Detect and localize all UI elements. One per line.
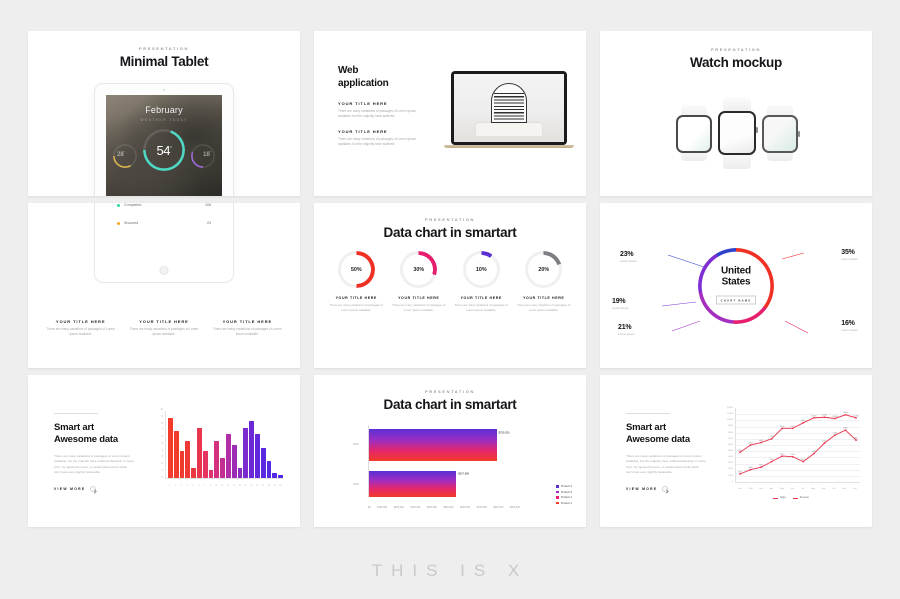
watch-center (717, 97, 757, 169)
line-ytick-11: 1000 (728, 475, 733, 477)
hbar-group-2014: $759,030$620,185$479,932$340,8872014 (369, 429, 520, 461)
watch-group (671, 89, 801, 174)
watch-right (761, 105, 799, 161)
stat-snoozed-label-group: Snoozed (117, 221, 138, 225)
line-xtick-11: Nov (839, 488, 849, 490)
donut-item-1: 50%YOUR TITLE HEREThere are many variati… (328, 251, 385, 313)
line-chart-x-axis: JanFebMarAprMayJunJulAugSepOctNovDec (735, 488, 860, 490)
slide-grid: PRESENTATION Minimal Tablet February WEA… (28, 31, 872, 527)
line-legend-item-1: Sales (773, 497, 786, 499)
bar-xtick-14: 14 (243, 485, 248, 487)
bar-xtick-10: 10 (220, 485, 225, 487)
bar-16 (255, 434, 260, 478)
web-app-block-2-title: YOUR TITLE HERE (338, 129, 420, 134)
bar-4 (185, 441, 190, 478)
line-point-label: 10500 (822, 415, 828, 417)
line-chart-y-axis: 1200011000100009000800070006000500040003… (722, 407, 733, 483)
hbar-ytick-2013: 2013 (353, 483, 359, 486)
bar-2 (174, 431, 179, 478)
column-3: YOUR TITLE HERE There are many variation… (211, 319, 284, 338)
bar-13 (238, 468, 243, 478)
column-2: YOUR TITLE HERE There are many variation… (127, 319, 200, 338)
hbar-legend-item-4: Product 1 (556, 502, 572, 505)
us-chart-name-badge: CHART NAME (716, 296, 757, 305)
donut-1-title: YOUR TITLE HERE (328, 296, 385, 300)
web-app-title: Web application (338, 65, 420, 91)
bar-xtick-5: 5 (190, 485, 195, 487)
bar-xtick-17: 17 (261, 485, 266, 487)
slide8-title: Data chart in smartart (314, 397, 586, 412)
hbar-group-2013: $507,580$411,339$319,609$220,6182013 (369, 471, 520, 497)
bar-17 (261, 448, 266, 478)
hbar-2014-product-4 (369, 429, 497, 461)
hbar-fill (369, 429, 497, 461)
slide-data-chart-donuts[interactable]: PRESENTATION Data chart in smartart 50%Y… (314, 203, 586, 368)
line-ytick-12: 0 (732, 481, 733, 483)
donut-item-4: 20%YOUR TITLE HEREThere are many variati… (516, 251, 573, 313)
stat-snoozed-label: Snoozed (124, 221, 138, 225)
bar-14 (243, 428, 248, 478)
legend-swatch (556, 496, 559, 499)
web-app-block-1: YOUR TITLE HERE There are many variation… (338, 101, 420, 120)
watch-left-screen (678, 117, 710, 151)
presentation-preview-page: PRESENTATION Minimal Tablet February WEA… (0, 0, 900, 599)
slide1-header: PRESENTATION Minimal Tablet (28, 31, 300, 69)
legend-swatch (556, 485, 559, 488)
bar-1 (168, 418, 173, 478)
slide-united-states-donut[interactable]: United States CHART NAME 35% Lorem ipsum… (600, 203, 872, 368)
hbar-xtick-1: $100,000 (377, 506, 387, 509)
hbar-fill (369, 471, 456, 497)
bar-7 (203, 451, 208, 478)
hbar-xtick-2: $200,000 (394, 506, 404, 509)
line-ytick-3: 9000 (728, 425, 733, 427)
smart-art-bars-title: Smart art Awesome data (54, 422, 134, 447)
right-temp-unit: ° (210, 150, 211, 154)
line-ytick-8: 4000 (728, 456, 733, 458)
slide5-header: PRESENTATION Data chart in smartart (314, 203, 586, 240)
legend-label: Product 1 (561, 502, 572, 505)
us-label-19-sub: Lorem ipsum (612, 306, 629, 310)
donut-item-2: 30%YOUR TITLE HEREThere are many variati… (391, 251, 448, 313)
bar-15 (249, 421, 254, 478)
title-rule-divider-2 (626, 413, 670, 414)
us-label-35-pct: 35% (841, 249, 858, 256)
bar-ytick-2: 8 (162, 423, 163, 425)
view-more-button-2[interactable]: VIEW MORE (626, 486, 706, 492)
us-center-line1: United (721, 265, 751, 276)
bar-12 (232, 445, 237, 479)
line-point-label: 10400 (853, 415, 859, 417)
tablet-home-button[interactable] (160, 266, 169, 275)
stat-completed-label: Completed (124, 203, 141, 207)
line-ytick-2: 10000 (727, 419, 733, 421)
bar-3 (180, 451, 185, 478)
hbar-value-label: $759,030 (499, 432, 510, 435)
us-donut-wrap: United States CHART NAME 35% Lorem ipsum… (600, 203, 872, 368)
laptop-base (444, 145, 574, 148)
stat-completed-value: 108 (205, 203, 211, 207)
us-donut-center: United States CHART NAME (701, 265, 771, 306)
watch-left (675, 105, 713, 161)
bar-ytick-5: 5 (162, 443, 163, 445)
legend-swatch (556, 502, 559, 505)
donut-3-title: YOUR TITLE HERE (453, 296, 510, 300)
donut-2-title: YOUR TITLE HERE (391, 296, 448, 300)
hbar-xtick-9: $900,000 (510, 506, 520, 509)
left-temp-unit: ° (124, 150, 125, 154)
bar-xtick-9: 9 (214, 485, 219, 487)
us-label-23-sub: Lorem ipsum (620, 259, 637, 263)
hbar-legend-item-1: Product 4 (556, 485, 572, 488)
line-point-label: 10900 (843, 412, 849, 414)
bar-10 (220, 458, 225, 478)
slide-minimal-tablet[interactable]: PRESENTATION Minimal Tablet February WEA… (28, 31, 300, 196)
line-point-label: 6800 (854, 437, 859, 439)
line-xtick-10: Oct (829, 488, 839, 490)
line-xtick-5: May (777, 488, 787, 490)
line-point-label: 8400 (843, 428, 848, 430)
line-chart-plot: 4800600064007000870087009600104001050010… (735, 408, 860, 483)
interior-sofa-graphic (476, 123, 542, 136)
bar-18 (267, 461, 272, 478)
sal-title-line1: Smart art (626, 422, 666, 433)
donut-2-body: There are many variations of passages of… (391, 303, 448, 313)
us-label-23-pct: 23% (620, 251, 637, 258)
bar-ytick-8: 2 (162, 463, 163, 465)
line-xtick-9: Sep (818, 488, 828, 490)
bar-chart-x-axis: 1234567891011121314151617181920 (167, 485, 283, 487)
us-label-16: 16% Lorem ipsum (841, 320, 858, 332)
donut-item-3: 10%YOUR TITLE HEREThere are many variati… (453, 251, 510, 313)
legend-line (793, 498, 798, 499)
bar-xtick-4: 4 (185, 485, 190, 487)
bar-chart-y-axis: 109876543210 (155, 409, 163, 479)
bar-ytick-10: 0 (162, 477, 163, 479)
weather-right-temp: 18° (203, 150, 211, 158)
bar-xtick-20: 20 (278, 485, 283, 487)
hbar-xtick-6: $600,000 (460, 506, 470, 509)
watch-center-screen (720, 113, 754, 153)
hbar-xtick-8: $800,000 (493, 506, 503, 509)
web-app-text-column: Web application YOUR TITLE HERE There ar… (338, 65, 420, 157)
bar-9 (214, 441, 219, 478)
stat-row-snoozed: Snoozed 24 (117, 221, 211, 225)
stat-completed-label-group: Completed (117, 203, 141, 207)
donut-3-value: 10% (476, 267, 487, 273)
legend-label: Revenue (800, 497, 809, 499)
line-series-revenue (740, 430, 856, 474)
legend-swatch (556, 491, 559, 494)
line-point-label: 10400 (811, 415, 817, 417)
three-column-text: YOUR TITLE HERE There are many variation… (44, 319, 284, 338)
laptop-display (454, 74, 564, 142)
hbar-xtick-5: $500,000 (444, 506, 454, 509)
weather-sub-label: WEATHER TODAY (106, 118, 222, 122)
donut-4-title: YOUR TITLE HERE (516, 296, 573, 300)
bar-6 (197, 428, 202, 478)
bar-ytick-9: 1 (162, 470, 163, 472)
smart-art-lines-title: Smart art Awesome data (626, 422, 706, 447)
legend-label: Product 4 (561, 485, 572, 488)
sab-title-line2: Awesome data (54, 434, 118, 445)
title-rule-divider (54, 413, 98, 414)
us-label-35: 35% Lorem ipsum (841, 249, 858, 261)
bar-xtick-1: 1 (167, 485, 172, 487)
view-more-label-2: VIEW MORE (626, 487, 657, 491)
stat-row-completed: Completed 108 (117, 203, 211, 207)
watch-right-crown-icon (798, 131, 800, 137)
tablet-camera-icon (163, 89, 165, 91)
us-label-21-sub: Lorem ipsum (618, 332, 635, 336)
bar-5 (191, 468, 196, 478)
tablet-bottom-mockup: Good job, you've completed 5 more tasks … (94, 203, 234, 283)
legend-label: Product 3 (561, 491, 572, 494)
slide-smart-art-lines[interactable]: Smart art Awesome data There are many va… (600, 375, 872, 527)
line-chart-svg: 4800600064007000870087009600104001050010… (736, 408, 860, 482)
slide3-eyebrow: PRESENTATION (600, 47, 872, 52)
slide-watch-mockup[interactable]: PRESENTATION Watch mockup (600, 31, 872, 196)
hbar-x-axis: $0$100,000$200,000$300,000$400,000$500,0… (368, 506, 520, 509)
us-label-16-sub: Lorem ipsum (841, 328, 858, 332)
hbar-legend: Product 4Product 3Product 2Product 1 (556, 485, 572, 507)
line-xtick-2: Feb (745, 488, 755, 490)
bar-ytick-6: 4 (162, 450, 163, 452)
us-label-35-sub: Lorem ipsum (841, 257, 858, 261)
donut-3: 10% (463, 251, 500, 288)
watch-right-screen (764, 117, 796, 151)
donut-3-body: There are many variations of passages of… (453, 303, 510, 313)
line-xtick-8: Aug (808, 488, 818, 490)
smart-art-lines-text: Smart art Awesome data There are many va… (626, 413, 706, 492)
bar-xtick-12: 12 (231, 485, 236, 487)
main-temp-value: 54 (157, 143, 170, 158)
hbar-plot: $759,030$620,185$479,932$340,8872014$507… (368, 425, 520, 497)
bar-chart-plot (165, 411, 283, 479)
web-app-block-1-title: YOUR TITLE HERE (338, 101, 420, 106)
bar-xtick-18: 18 (266, 485, 271, 487)
bar-19 (272, 473, 277, 478)
column-1-body: There are many variations of passages of… (44, 327, 117, 338)
slide-smart-art-bars[interactable]: Smart art Awesome data There are many va… (28, 375, 300, 527)
arrow-right-icon (90, 486, 96, 492)
watch-left-body (676, 115, 712, 153)
vertical-bar-chart: 109876543210 123456789101112131415161718… (155, 409, 283, 491)
us-label-16-pct: 16% (841, 320, 858, 327)
watch-right-body (762, 115, 798, 153)
line-xtick-7: Jul (798, 488, 808, 490)
line-ytick-4: 8000 (728, 432, 733, 434)
bar-xtick-8: 8 (208, 485, 213, 487)
status-dot-snoozed-icon (117, 222, 120, 225)
bar-ytick-0: 10 (160, 409, 163, 411)
donut-1: 50% (338, 251, 375, 288)
donut-1-body: There are many variations of passages of… (328, 303, 385, 313)
line-legend-item-2: Revenue (793, 497, 809, 499)
column-1-title: YOUR TITLE HERE (44, 319, 117, 324)
slide-data-chart-hbars[interactable]: PRESENTATION Data chart in smartart $759… (314, 375, 586, 527)
hbar-value-label: $507,580 (458, 473, 469, 476)
tablet-screen: February WEATHER TODAY 54° 28° 18° (106, 95, 222, 196)
line-ytick-10: 2000 (728, 468, 733, 470)
bar-xtick-15: 15 (249, 485, 254, 487)
column-2-body: There are many variations of passages of… (127, 327, 200, 338)
web-app-title-line2: application (338, 78, 389, 89)
weather-month-label: February (106, 105, 222, 115)
donut-chart-row: 50%YOUR TITLE HEREThere are many variati… (328, 251, 572, 313)
hbar-xtick-3: $300,000 (410, 506, 420, 509)
sab-title-line1: Smart art (54, 422, 94, 433)
laptop-lid (451, 71, 567, 145)
bar-ytick-1: 9 (162, 416, 163, 418)
main-temp-unit: ° (170, 146, 172, 152)
slide1-title: Minimal Tablet (28, 54, 300, 69)
smart-art-bars-body: There are many variations of passages of… (54, 454, 134, 476)
line-ytick-0: 12000 (727, 407, 733, 409)
legend-label: Sales (780, 497, 786, 499)
smart-art-bars-text: Smart art Awesome data There are many va… (54, 413, 134, 492)
slide5-title: Data chart in smartart (314, 225, 586, 240)
bar-xtick-7: 7 (202, 485, 207, 487)
right-temp-value: 18 (203, 152, 210, 158)
smart-art-lines-body: There are many variations of passages of… (626, 454, 706, 476)
bar-xtick-13: 13 (237, 485, 242, 487)
web-app-title-line1: Web (338, 65, 358, 76)
slide-web-application[interactable]: Web application YOUR TITLE HERE There ar… (314, 31, 586, 196)
line-point-label: 4100 (791, 454, 796, 456)
bar-11 (226, 434, 231, 478)
us-label-21-pct: 21% (618, 324, 635, 331)
bar-xtick-2: 2 (173, 485, 178, 487)
bar-xtick-11: 11 (225, 485, 230, 487)
arrow-right-icon-2 (662, 486, 668, 492)
line-xtick-1: Jan (735, 488, 745, 490)
bar-ytick-7: 3 (162, 456, 163, 458)
stat-snoozed-value: 24 (207, 221, 211, 225)
slide5-eyebrow: PRESENTATION (314, 217, 586, 222)
sal-title-line2: Awesome data (626, 434, 690, 445)
line-point-label: 10300 (832, 416, 838, 418)
column-3-title: YOUR TITLE HERE (211, 319, 284, 324)
donut-2: 30% (400, 251, 437, 288)
us-center-line2: States (722, 277, 751, 288)
us-label-19-pct: 19% (612, 298, 629, 305)
laptop-mockup (444, 71, 574, 148)
slide3-title: Watch mockup (600, 55, 872, 70)
us-label-23: 23% Lorem ipsum (620, 251, 637, 263)
donut-1-value: 50% (351, 267, 362, 273)
column-2-title: YOUR TITLE HERE (127, 319, 200, 324)
hbar-legend-item-3: Product 2 (556, 496, 572, 499)
line-point-label: 8700 (780, 426, 785, 428)
horizontal-bar-chart: $759,030$620,185$479,932$340,8872014$507… (350, 425, 574, 511)
bar-xtick-6: 6 (196, 485, 201, 487)
web-app-block-2-body: There are many variations of passages of… (338, 137, 420, 148)
us-label-21: 21% Lorem ipsum (618, 324, 635, 336)
legend-label: Product 2 (561, 496, 572, 499)
bar-xtick-3: 3 (179, 485, 184, 487)
status-dot-completed-icon (117, 204, 120, 207)
donut-4-value: 20% (538, 267, 549, 273)
hbar-legend-item-2: Product 3 (556, 491, 572, 494)
bar-8 (209, 470, 214, 478)
line-ytick-7: 5000 (728, 450, 733, 452)
slide8-header: PRESENTATION Data chart in smartart (314, 375, 586, 412)
slide8-eyebrow: PRESENTATION (314, 389, 586, 394)
tablet-mockup: February WEATHER TODAY 54° 28° 18° (94, 83, 234, 196)
us-center-label: United States (701, 265, 771, 288)
left-temp-value: 28 (117, 152, 124, 158)
column-3-body: There are many variations of passages of… (211, 327, 284, 338)
line-chart: 1200011000100009000800070006000500040003… (722, 407, 860, 499)
us-label-19: 19% Lorem ipsum (612, 298, 629, 310)
slide3-header: PRESENTATION Watch mockup (600, 31, 872, 70)
donut-4: 20% (525, 251, 562, 288)
line-ytick-1: 11000 (727, 413, 733, 415)
interior-window-graphic (491, 83, 527, 123)
weather-left-temp: 28° (117, 150, 125, 158)
donut-2-value: 30% (413, 267, 424, 273)
brand-footer: THIS IS X (0, 561, 900, 581)
line-chart-legend: SalesRevenue (722, 497, 860, 499)
hbar-xtick-0: $0 (368, 506, 371, 509)
column-1: YOUR TITLE HERE There are many variation… (44, 319, 117, 338)
view-more-label: VIEW MORE (54, 487, 85, 491)
watch-center-body (718, 111, 756, 155)
slide-tablet-stats[interactable]: Good job, you've completed 5 more tasks … (28, 203, 300, 368)
bar-xtick-19: 19 (272, 485, 277, 487)
watch-crown-icon (756, 127, 758, 133)
bar-ytick-3: 7 (162, 429, 163, 431)
view-more-button[interactable]: VIEW MORE (54, 486, 134, 492)
weather-main-temp: 54° (157, 143, 172, 158)
line-xtick-12: Dec (850, 488, 860, 490)
line-xtick-3: Mar (756, 488, 766, 490)
hbar-ytick-2014: 2014 (353, 443, 359, 446)
line-xtick-6: Jun (787, 488, 797, 490)
line-ytick-5: 7000 (728, 438, 733, 440)
line-ytick-9: 3000 (728, 462, 733, 464)
legend-line (773, 498, 778, 499)
hbar-xtick-7: $700,000 (477, 506, 487, 509)
bar-xtick-16: 16 (255, 485, 260, 487)
slide1-eyebrow: PRESENTATION (28, 46, 300, 51)
web-app-block-1-body: There are many variations of passages of… (338, 109, 420, 120)
line-point-label: 4200 (780, 454, 785, 456)
line-xtick-4: Apr (766, 488, 776, 490)
hbar-2013-product-4 (369, 471, 456, 497)
hbar-xtick-4: $400,000 (427, 506, 437, 509)
line-ytick-6: 6000 (728, 444, 733, 446)
bar-20 (278, 475, 283, 478)
donut-4-body: There are many variations of passages of… (516, 303, 573, 313)
bar-ytick-4: 6 (162, 436, 163, 438)
web-app-block-2: YOUR TITLE HERE There are many variation… (338, 129, 420, 148)
